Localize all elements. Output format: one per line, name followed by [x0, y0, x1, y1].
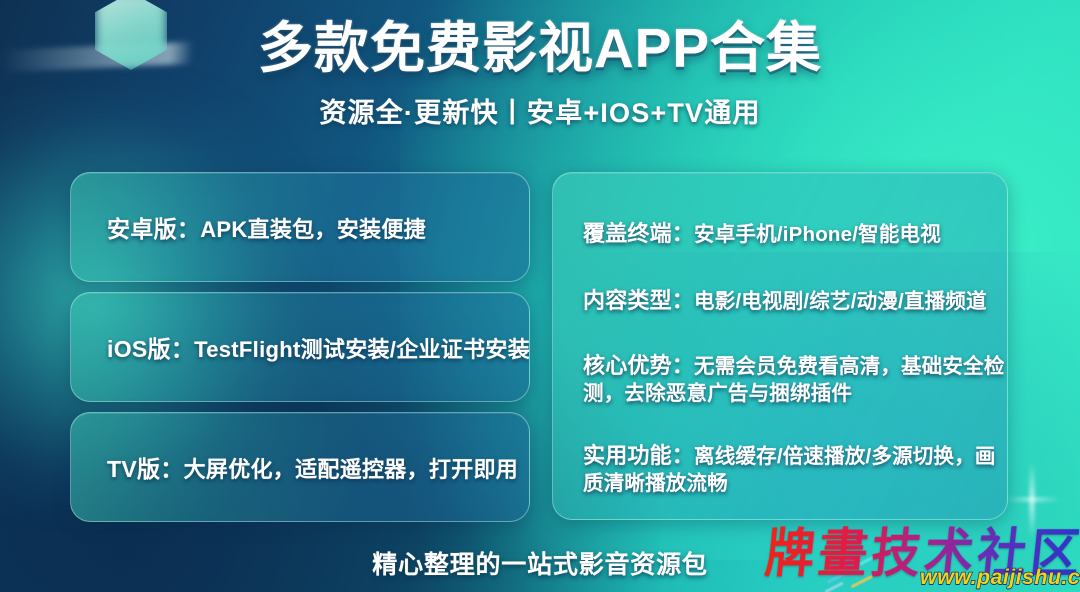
- poster-canvas: 多款免费影视APP合集 资源全·更新快丨安卓+IOS+TV通用 安卓版：APK直…: [0, 0, 1080, 592]
- card-tv-value: 大屏优化，适配遥控器，打开即用: [184, 457, 519, 482]
- card-tv-version[interactable]: TV版：大屏优化，适配遥控器，打开即用: [70, 412, 530, 522]
- feature-content-value: 电影/电视剧/综艺/动漫/直播频道: [694, 290, 987, 313]
- header-block: 多款免费影视APP合集 资源全·更新快丨安卓+IOS+TV通用: [0, 18, 1080, 130]
- card-ios-text: iOS版：TestFlight测试安装/企业证书安装: [71, 330, 530, 364]
- card-ios-value: TestFlight测试安装/企业证书安装: [194, 337, 530, 362]
- card-ios-version[interactable]: iOS版：TestFlight测试安装/企业证书安装: [70, 292, 530, 402]
- feature-content-label: 内容类型：: [583, 288, 694, 313]
- feature-advantages-label: 核心优势：: [583, 353, 694, 378]
- watermark: 牌畫技术社区 www.paijishu.com: [762, 518, 1080, 592]
- watermark-url-text: www.paijishu.com: [920, 565, 1080, 590]
- card-android-text: 安卓版：APK直装包，安装便捷: [71, 210, 426, 244]
- feature-functions-label: 实用功能：: [583, 443, 694, 468]
- feature-supported-devices: 覆盖终端：安卓手机/iPhone/智能电视: [583, 219, 1007, 248]
- page-subtitle: 资源全·更新快丨安卓+IOS+TV通用: [0, 91, 1080, 130]
- feature-devices-label: 覆盖终端：: [583, 221, 694, 246]
- card-tv-label: TV版：: [107, 456, 184, 482]
- feature-core-advantages: 核心优势：无需会员免费看高清，基础安全检测，去除恶意广告与捆绑插件: [583, 351, 1007, 407]
- card-android-value: APK直装包，安装便捷: [200, 217, 426, 242]
- card-android-label: 安卓版：: [107, 216, 200, 242]
- feature-devices-value: 安卓手机/iPhone/智能电视: [694, 223, 941, 246]
- sparkle-horizontal-ray: [1004, 498, 1060, 501]
- page-title: 多款免费影视APP合集: [0, 18, 1080, 80]
- card-android-version[interactable]: 安卓版：APK直装包，安装便捷: [70, 172, 530, 282]
- feature-content-types: 内容类型：电影/电视剧/综艺/动漫/直播频道: [583, 286, 1007, 315]
- card-ios-label: iOS版：: [107, 336, 194, 362]
- feature-practical-functions: 实用功能：离线缓存/倍速播放/多源切换，画质清晰播放流畅: [583, 441, 1007, 497]
- card-tv-text: TV版：大屏优化，适配遥控器，打开即用: [71, 450, 518, 484]
- card-feature-panel[interactable]: 覆盖终端：安卓手机/iPhone/智能电视 内容类型：电影/电视剧/综艺/动漫/…: [552, 172, 1008, 520]
- left-card-column: 安卓版：APK直装包，安装便捷 iOS版：TestFlight测试安装/企业证书…: [70, 172, 530, 522]
